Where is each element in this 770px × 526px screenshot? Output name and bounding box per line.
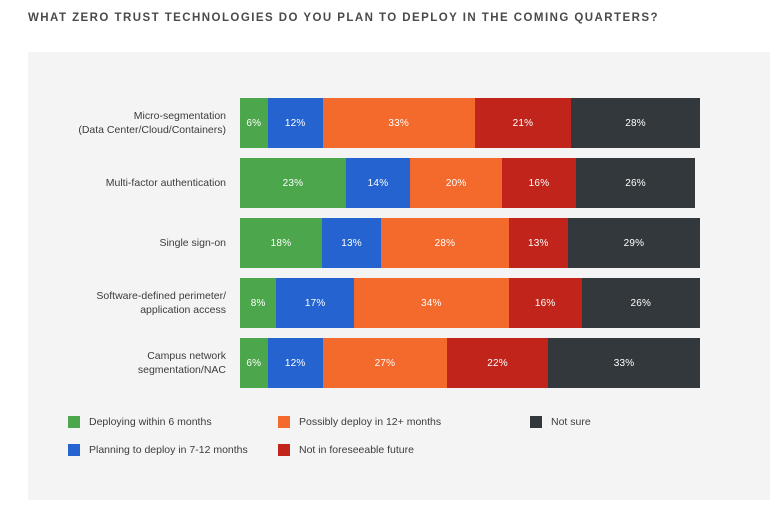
bar-segment: 16% bbox=[502, 158, 576, 208]
bar-segment-value-label: 26% bbox=[630, 298, 651, 309]
bar-segment: 6% bbox=[240, 338, 268, 388]
legend-item-label: Not sure bbox=[551, 416, 591, 428]
bar-segment-value-label: 34% bbox=[421, 298, 442, 309]
bar-segment-value-label: 21% bbox=[513, 118, 534, 129]
bar-row: Campus networksegmentation/NAC6%12%27%22… bbox=[28, 338, 708, 388]
bar-segment-value-label: 16% bbox=[529, 178, 550, 189]
bar-segment-value-label: 29% bbox=[624, 238, 645, 249]
bar-segment: 28% bbox=[571, 98, 700, 148]
bar-row-label-line: Campus network bbox=[147, 349, 226, 363]
bar-segment: 27% bbox=[323, 338, 447, 388]
bar-segment-value-label: 12% bbox=[285, 358, 306, 369]
bar-segment-value-label: 22% bbox=[487, 358, 508, 369]
bar-segment: 29% bbox=[568, 218, 700, 268]
bar-segment-value-label: 18% bbox=[271, 238, 292, 249]
bar-segment: 20% bbox=[410, 158, 502, 208]
stacked-bar-track: 6%12%27%22%33% bbox=[240, 338, 700, 388]
bar-segment: 13% bbox=[509, 218, 568, 268]
bar-segment: 34% bbox=[354, 278, 509, 328]
bar-segment: 12% bbox=[268, 98, 323, 148]
stacked-bar-track: 6%12%33%21%28% bbox=[240, 98, 700, 148]
bar-segment: 33% bbox=[323, 98, 475, 148]
bar-segment-value-label: 27% bbox=[375, 358, 396, 369]
stacked-bar-track: 8%17%34%16%26% bbox=[240, 278, 700, 328]
bar-segment-value-label: 6% bbox=[246, 118, 261, 129]
bar-segment-value-label: 13% bbox=[528, 238, 549, 249]
bar-row: Micro-segmentation(Data Center/Cloud/Con… bbox=[28, 98, 708, 148]
bar-segment-value-label: 20% bbox=[446, 178, 467, 189]
stacked-bar-track: 23%14%20%16%26% bbox=[240, 158, 700, 208]
legend-item[interactable]: Not sure bbox=[530, 414, 591, 430]
bar-row: Multi-factor authentication23%14%20%16%2… bbox=[28, 158, 708, 208]
bar-segment: 28% bbox=[381, 218, 509, 268]
bar-row-label-line: segmentation/NAC bbox=[138, 363, 226, 377]
bar-row-label: Software-defined perimeter/application a… bbox=[28, 278, 226, 328]
stacked-bar-track: 18%13%28%13%29% bbox=[240, 218, 700, 268]
bar-segment-value-label: 12% bbox=[285, 118, 306, 129]
bar-segment-value-label: 33% bbox=[614, 358, 635, 369]
legend-swatch-darkred bbox=[278, 444, 290, 456]
legend-swatch-green bbox=[68, 416, 80, 428]
bar-segment-value-label: 28% bbox=[435, 238, 456, 249]
bar-segment: 22% bbox=[447, 338, 548, 388]
bar-segment-value-label: 8% bbox=[251, 298, 266, 309]
legend-item-label: Deploying within 6 months bbox=[89, 416, 212, 428]
bar-segment: 6% bbox=[240, 98, 268, 148]
bar-row: Software-defined perimeter/application a… bbox=[28, 278, 708, 328]
bar-segment-value-label: 16% bbox=[535, 298, 556, 309]
page-title: WHAT ZERO TRUST TECHNOLOGIES DO YOU PLAN… bbox=[28, 12, 748, 24]
bar-segment-value-label: 6% bbox=[246, 358, 261, 369]
bar-segment-value-label: 17% bbox=[305, 298, 326, 309]
bar-segment-value-label: 13% bbox=[341, 238, 362, 249]
legend-item-label: Possibly deploy in 12+ months bbox=[299, 416, 441, 428]
bar-row-label-line: Single sign-on bbox=[159, 236, 226, 250]
legend-item[interactable]: Planning to deploy in 7-12 months bbox=[68, 442, 248, 458]
bar-segment: 18% bbox=[240, 218, 322, 268]
chart-panel: Micro-segmentation(Data Center/Cloud/Con… bbox=[28, 52, 770, 500]
bar-segment-value-label: 33% bbox=[388, 118, 409, 129]
bar-row-label: Multi-factor authentication bbox=[28, 158, 226, 208]
bar-segment: 23% bbox=[240, 158, 346, 208]
bar-segment-value-label: 23% bbox=[283, 178, 304, 189]
legend-item[interactable]: Possibly deploy in 12+ months bbox=[278, 414, 441, 430]
legend-swatch-orange bbox=[278, 416, 290, 428]
bar-row-label-line: Multi-factor authentication bbox=[106, 176, 226, 190]
bar-row-label-line: (Data Center/Cloud/Containers) bbox=[78, 123, 226, 137]
legend-item-label: Planning to deploy in 7-12 months bbox=[89, 444, 248, 456]
legend-item[interactable]: Not in foreseeable future bbox=[278, 442, 414, 458]
bar-row-label-line: Software-defined perimeter/ bbox=[96, 289, 226, 303]
bar-segment: 26% bbox=[576, 158, 696, 208]
bar-row-label-line: application access bbox=[140, 303, 226, 317]
bar-row-label: Campus networksegmentation/NAC bbox=[28, 338, 226, 388]
bar-segment: 33% bbox=[548, 338, 700, 388]
bar-row-label: Single sign-on bbox=[28, 218, 226, 268]
bar-segment-value-label: 28% bbox=[625, 118, 646, 129]
bar-segment-value-label: 26% bbox=[625, 178, 646, 189]
chart-legend: Deploying within 6 monthsPlanning to dep… bbox=[68, 414, 758, 474]
legend-swatch-charcoal bbox=[530, 416, 542, 428]
bar-row-label: Micro-segmentation(Data Center/Cloud/Con… bbox=[28, 98, 226, 148]
bar-segment: 26% bbox=[582, 278, 700, 328]
bar-segment: 12% bbox=[268, 338, 323, 388]
bar-segment-value-label: 14% bbox=[368, 178, 389, 189]
bar-segment: 17% bbox=[276, 278, 353, 328]
bar-row: Single sign-on18%13%28%13%29% bbox=[28, 218, 708, 268]
legend-item-label: Not in foreseeable future bbox=[299, 444, 414, 456]
bar-segment: 13% bbox=[322, 218, 381, 268]
bar-row-label-line: Micro-segmentation bbox=[134, 109, 226, 123]
legend-swatch-blue bbox=[68, 444, 80, 456]
bar-segment: 16% bbox=[509, 278, 582, 328]
legend-item[interactable]: Deploying within 6 months bbox=[68, 414, 212, 430]
bar-segment: 14% bbox=[346, 158, 410, 208]
bar-segment: 8% bbox=[240, 278, 276, 328]
bar-segment: 21% bbox=[475, 98, 572, 148]
